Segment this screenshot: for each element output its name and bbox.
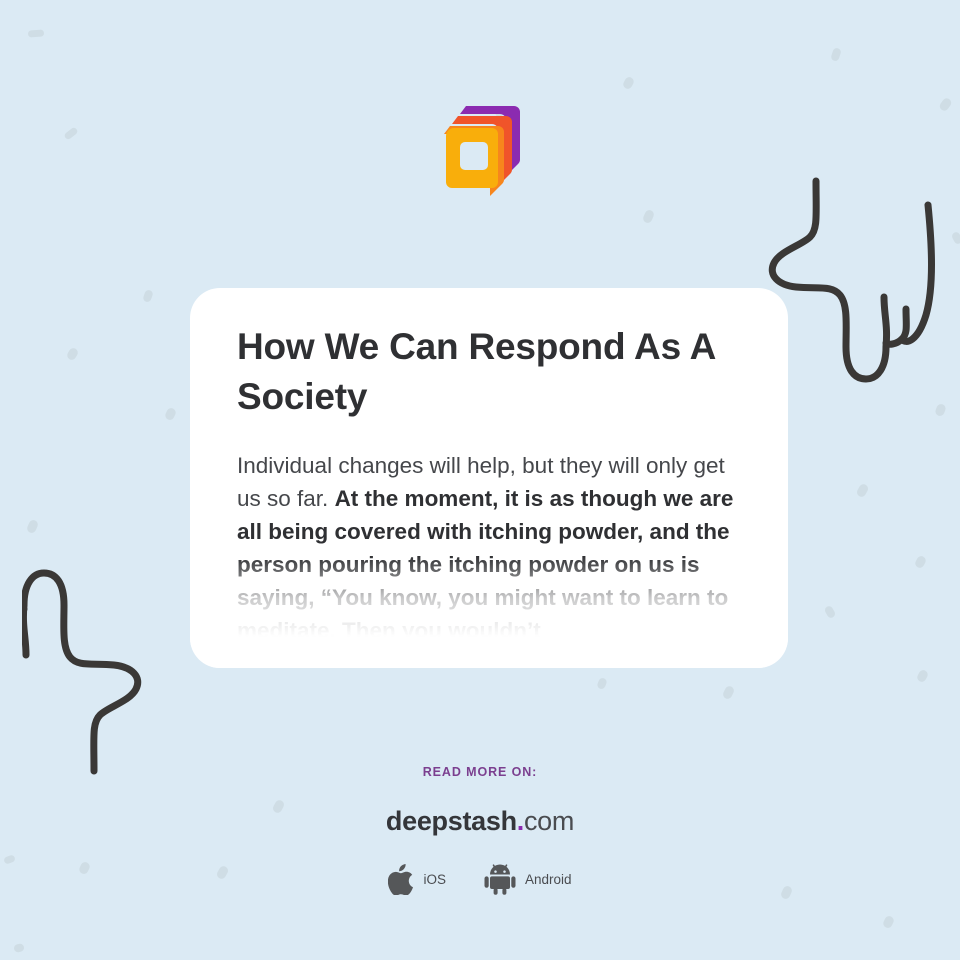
pointing-hand-up-icon xyxy=(22,565,198,782)
brand-name: deepstash xyxy=(386,806,517,836)
confetti-fleck xyxy=(13,943,25,953)
confetti-fleck xyxy=(916,669,930,684)
confetti-fleck xyxy=(934,403,947,417)
brand-wordmark[interactable]: deepstash.com xyxy=(386,806,574,837)
story-card[interactable]: How We Can Respond As A Society Individu… xyxy=(190,288,788,668)
confetti-fleck xyxy=(951,231,960,245)
story-body: Individual changes will help, but they w… xyxy=(237,449,741,647)
read-more-label: READ MORE ON: xyxy=(423,765,537,779)
brand-tld: com xyxy=(524,806,574,836)
store-label-android: Android xyxy=(525,872,572,887)
confetti-fleck xyxy=(28,29,44,37)
confetti-fleck xyxy=(622,76,636,91)
confetti-fleck xyxy=(26,519,40,535)
page-title: How We Can Respond As A Society xyxy=(237,322,741,422)
confetti-fleck xyxy=(596,677,608,690)
confetti-fleck xyxy=(66,347,80,362)
brand-dot: . xyxy=(517,806,524,836)
confetti-fleck xyxy=(164,407,177,422)
confetti-fleck xyxy=(824,605,837,619)
confetti-fleck xyxy=(142,289,154,303)
footer: READ MORE ON: deepstash.com iOS xyxy=(0,765,960,895)
app-store-link-android[interactable]: Android xyxy=(484,864,572,895)
store-label-ios: iOS xyxy=(423,872,446,887)
confetti-fleck xyxy=(830,47,842,62)
story-card-content: How We Can Respond As A Society Individu… xyxy=(190,288,788,647)
confetti-fleck xyxy=(914,555,928,570)
confetti-fleck xyxy=(855,483,869,499)
store-links: iOS Android xyxy=(388,864,571,895)
app-store-link-ios[interactable]: iOS xyxy=(388,864,446,895)
deepstash-logo xyxy=(0,104,960,198)
android-icon xyxy=(484,864,516,895)
confetti-fleck xyxy=(882,915,895,930)
confetti-fleck xyxy=(642,209,656,225)
apple-icon xyxy=(388,864,414,895)
pointing-hand-down-icon xyxy=(766,175,942,392)
logo-icon xyxy=(436,104,524,198)
confetti-fleck xyxy=(722,685,736,701)
